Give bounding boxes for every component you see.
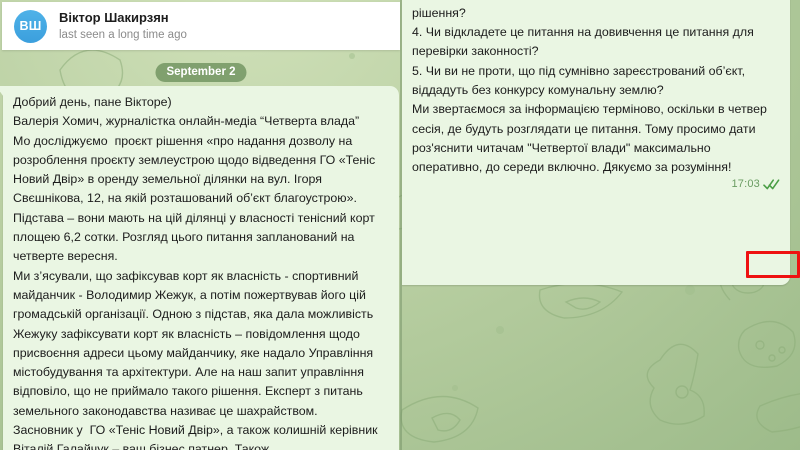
chat-title: Віктор Шакирзян — [59, 10, 187, 26]
message-timestamp: 17:03 — [731, 178, 760, 190]
left-screenshot-pane: ВШ Віктор Шакирзян last seen a long time… — [0, 0, 402, 450]
chat-header[interactable]: ВШ Віктор Шакирзян last seen a long time… — [2, 2, 400, 50]
right-screenshot-pane: керівник Віталій Галайчук – ваш бізнес п… — [402, 0, 800, 450]
message-text-part-two: керівник Віталій Галайчук – ваш бізнес п… — [412, 0, 780, 177]
chat-header-texts: Віктор Шакирзян last seen a long time ag… — [59, 10, 187, 43]
message-bubble-part-two[interactable]: керівник Віталій Галайчук – ваш бізнес п… — [402, 0, 790, 285]
message-bubble-part-one[interactable]: Добрий день, пане Вікторе) Валерія Хомич… — [3, 86, 399, 450]
chat-status: last seen a long time ago — [59, 28, 187, 42]
read-receipt-double-check-icon — [763, 179, 780, 190]
telegram-chat-screenshot: ВШ Віктор Шакирзян last seen a long time… — [0, 0, 800, 450]
avatar[interactable]: ВШ — [14, 10, 47, 43]
message-text-part-one: Добрий день, пане Вікторе) Валерія Хомич… — [13, 93, 389, 450]
message-meta: 17:03 — [412, 178, 780, 190]
date-separator: September 2 — [155, 63, 246, 82]
pane-divider — [400, 0, 402, 450]
